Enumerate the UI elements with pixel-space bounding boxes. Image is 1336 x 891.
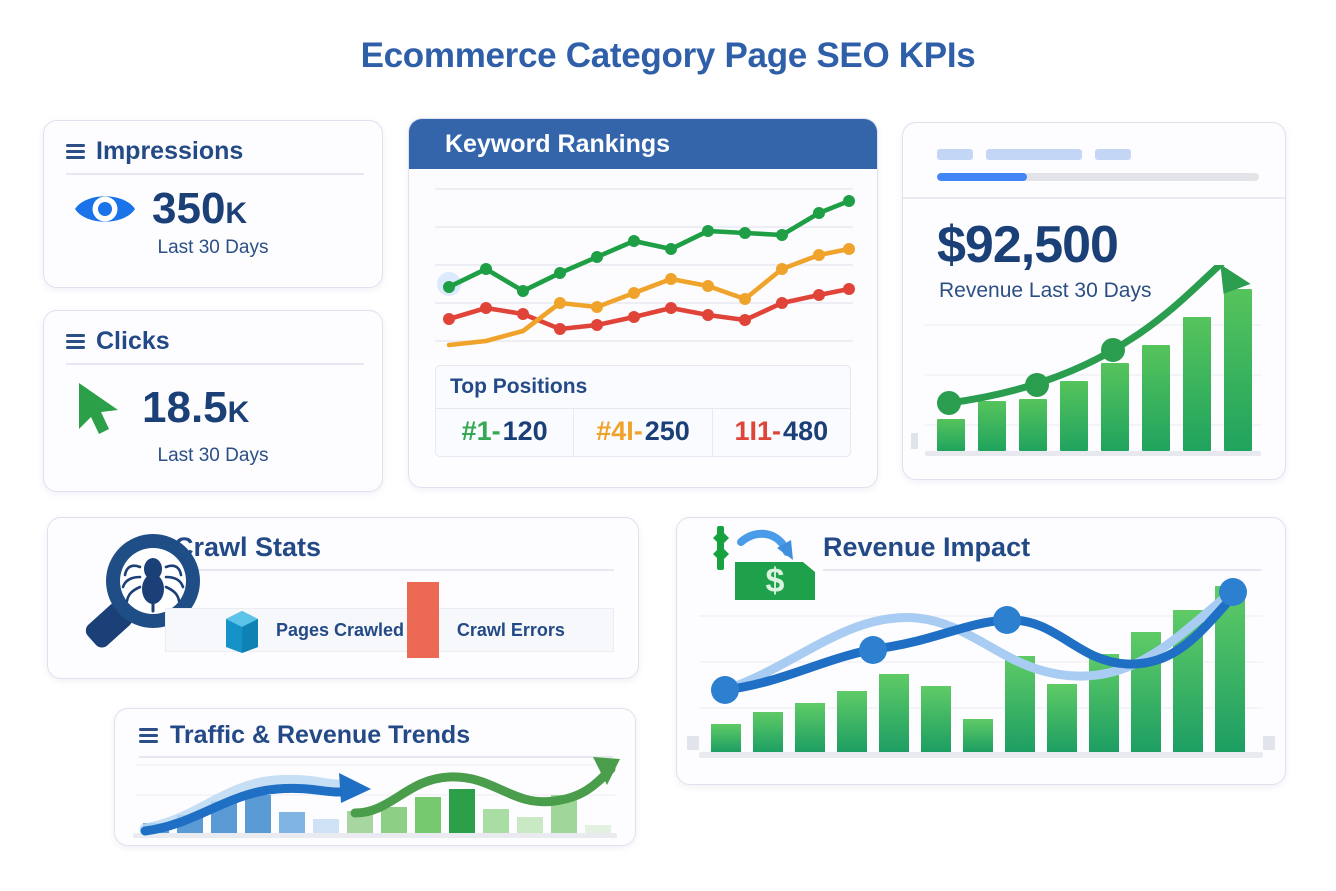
kpi-value: 18.5K bbox=[142, 386, 249, 430]
position-value: 480 bbox=[783, 416, 828, 446]
legend-label: Crawl Errors bbox=[439, 620, 565, 641]
position-value: 120 bbox=[503, 416, 548, 446]
traffic-revenue-trends-panel[interactable]: Traffic & Revenue Trends bbox=[114, 708, 636, 846]
progress-fill bbox=[937, 173, 1027, 181]
progress-bar[interactable] bbox=[937, 173, 1259, 181]
revenue-impact-panel[interactable]: Revenue Impact $ bbox=[676, 517, 1286, 785]
panel-title: Traffic & Revenue Trends bbox=[170, 721, 470, 750]
legend-item-crawl-errors[interactable]: Crawl Errors bbox=[438, 608, 614, 652]
position-label: 1I1- bbox=[735, 416, 782, 446]
divider bbox=[823, 569, 1261, 571]
revenue-impact-chart bbox=[677, 578, 1285, 778]
kpi-card-header: Impressions bbox=[44, 121, 382, 166]
top-position-cell[interactable]: #1-120 bbox=[436, 409, 573, 456]
skeleton-header bbox=[903, 123, 1285, 181]
top-positions-box: Top Positions #1-120 #4I-250 1I1-480 bbox=[435, 365, 851, 457]
divider bbox=[174, 569, 614, 571]
panel-header: Keyword Rankings bbox=[409, 119, 877, 169]
top-position-cell[interactable]: 1I1-480 bbox=[712, 409, 850, 456]
kpi-card-impressions[interactable]: Impressions 350K Last 30 Days bbox=[43, 120, 383, 288]
top-position-cell[interactable]: #4I-250 bbox=[573, 409, 711, 456]
position-value: 250 bbox=[645, 416, 690, 446]
skeleton-chip bbox=[986, 149, 1082, 160]
position-label: #4I- bbox=[596, 416, 643, 446]
kpi-value: 350K bbox=[152, 187, 247, 231]
panel-title: Revenue Impact bbox=[823, 532, 1030, 563]
cursor-arrow-icon bbox=[66, 377, 128, 439]
skeleton-chip bbox=[937, 149, 973, 160]
revenue-bar-chart bbox=[903, 265, 1285, 475]
revenue-summary-card[interactable]: $92,500 Revenue Last 30 Days bbox=[902, 122, 1286, 480]
hamburger-icon[interactable] bbox=[66, 331, 85, 353]
keyword-rankings-chart bbox=[409, 169, 877, 359]
top-positions-title: Top Positions bbox=[436, 366, 850, 409]
legend-item-pages-crawled[interactable]: Pages Crawled bbox=[165, 608, 438, 652]
hamburger-icon[interactable] bbox=[139, 725, 158, 747]
panel-header: Traffic & Revenue Trends bbox=[115, 709, 635, 750]
kpi-card-header: Clicks bbox=[44, 311, 382, 356]
bar-red-icon bbox=[407, 582, 439, 658]
panel-title: Keyword Rankings bbox=[445, 130, 670, 159]
kpi-body: 18.5K bbox=[44, 365, 382, 439]
kpi-subtitle: Last 30 Days bbox=[44, 237, 382, 259]
skeleton-chip bbox=[1095, 149, 1131, 160]
kpi-title: Impressions bbox=[96, 137, 243, 166]
legend-label: Pages Crawled bbox=[262, 620, 404, 641]
crawl-legend: Pages Crawled Crawl Errors bbox=[165, 608, 614, 652]
revenue-amount: $92,500 bbox=[903, 199, 1285, 275]
trends-chart bbox=[115, 751, 635, 843]
kpi-subtitle: Last 30 Days bbox=[44, 445, 382, 467]
skeleton-chip-row bbox=[937, 149, 1259, 160]
hamburger-icon[interactable] bbox=[66, 141, 85, 163]
eye-icon bbox=[72, 188, 138, 230]
keyword-rankings-panel[interactable]: Keyword Rankings bbox=[408, 118, 878, 488]
kpi-body: 350K bbox=[44, 175, 382, 231]
top-positions-row: #1-120 #4I-250 1I1-480 bbox=[436, 409, 850, 456]
kpi-card-clicks[interactable]: Clicks 18.5K Last 30 Days bbox=[43, 310, 383, 492]
page-title: Ecommerce Category Page SEO KPIs bbox=[0, 36, 1336, 76]
position-label: #1- bbox=[462, 416, 501, 446]
crawl-stats-panel[interactable]: Crawl Stats bbox=[47, 517, 639, 679]
kpi-title: Clicks bbox=[96, 327, 170, 356]
cube-blue-icon bbox=[222, 607, 262, 653]
